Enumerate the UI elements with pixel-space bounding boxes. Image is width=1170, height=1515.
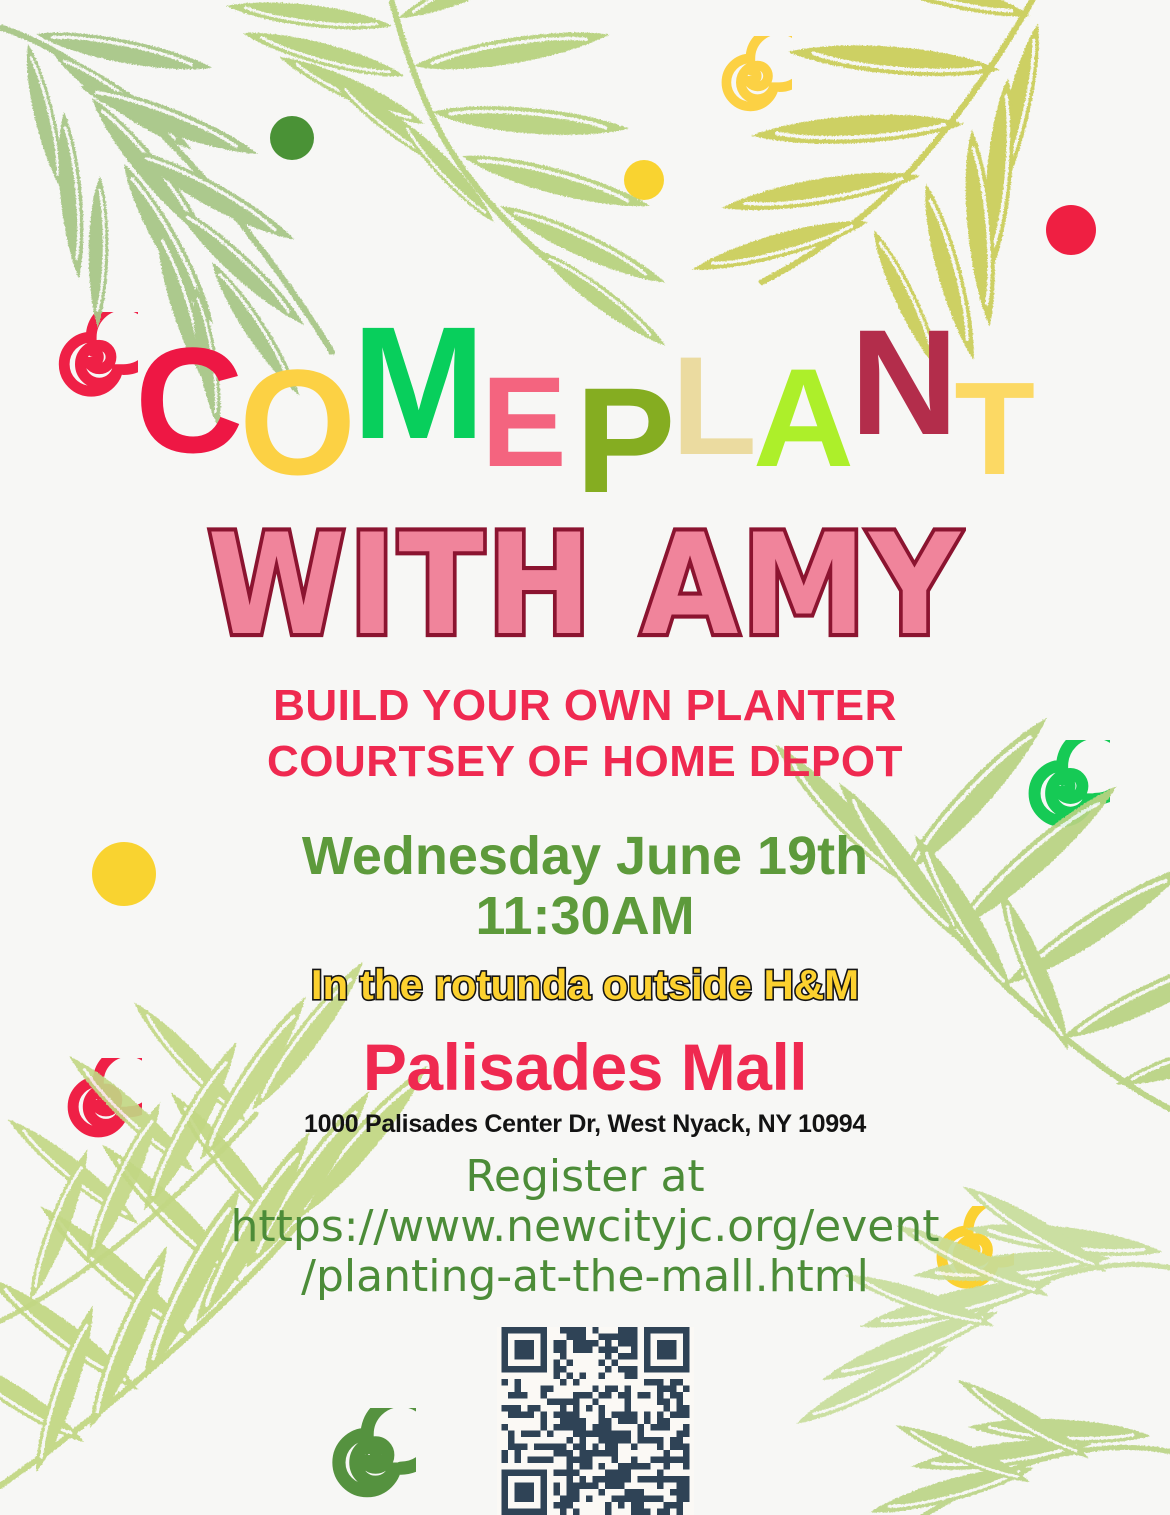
event-datetime-block: Wednesday June 19th 11:30AM	[0, 826, 1170, 947]
subtitle-line-2: COURTSEY OF HOME DEPOT	[0, 734, 1170, 790]
event-date: Wednesday June 19th	[0, 826, 1170, 886]
register-label: Register at	[0, 1152, 1170, 1202]
venue-block: Palisades Mall 1000 Palisades Center Dr,…	[0, 1032, 1170, 1139]
headline-letter-1: O	[239, 355, 356, 490]
flyer-poster: COME PLANT WITH AMY BUILD YOUR OWN PLANT…	[0, 0, 1170, 1515]
headline-letter-2: M	[352, 311, 485, 455]
with-amy-title: WITH AMY	[207, 515, 962, 654]
with-amy-container: WITH AMY	[0, 515, 1170, 633]
qr-code-image	[497, 1327, 694, 1515]
subtitle-block: BUILD YOUR OWN PLANTER COURTSEY OF HOME …	[0, 678, 1170, 791]
headline-letter-5: P	[575, 373, 675, 508]
venue-address: 1000 Palisades Center Dr, West Nyack, NY…	[0, 1109, 1170, 1139]
dot-yellow-top	[624, 160, 664, 200]
headline-letter-8: N	[850, 315, 958, 450]
register-url-line-1[interactable]: https://www.newcityjc.org/event	[0, 1202, 1170, 1252]
qr-code[interactable]	[497, 1327, 694, 1515]
leaf-branch-bottom-right	[866, 1370, 1170, 1515]
register-url-line-2[interactable]: /planting-at-the-mall.html	[0, 1252, 1170, 1302]
headline-letter-0: C	[135, 333, 243, 468]
spiral-yellow-top	[712, 36, 792, 116]
spiral-dark-green-bottom	[322, 1408, 416, 1502]
headline-letter-9: T	[954, 370, 1035, 489]
headline-letter-3: E	[481, 365, 566, 480]
subtitle-line-1: BUILD YOUR OWN PLANTER	[0, 678, 1170, 734]
headline-letter-6: L	[671, 343, 757, 469]
headline-come-plant: COME PLANT	[135, 325, 1035, 469]
event-time: 11:30AM	[0, 886, 1170, 946]
venue-name: Palisades Mall	[0, 1032, 1170, 1103]
headline-container: COME PLANT	[0, 325, 1170, 469]
headline-letter-7: A	[753, 355, 854, 481]
register-block: Register at https://www.newcityjc.org/ev…	[0, 1152, 1170, 1302]
location-note: In the rotunda outside H&M	[0, 962, 1170, 1008]
dot-red-top-right	[1046, 205, 1096, 255]
dot-dark-green-top	[270, 116, 314, 160]
